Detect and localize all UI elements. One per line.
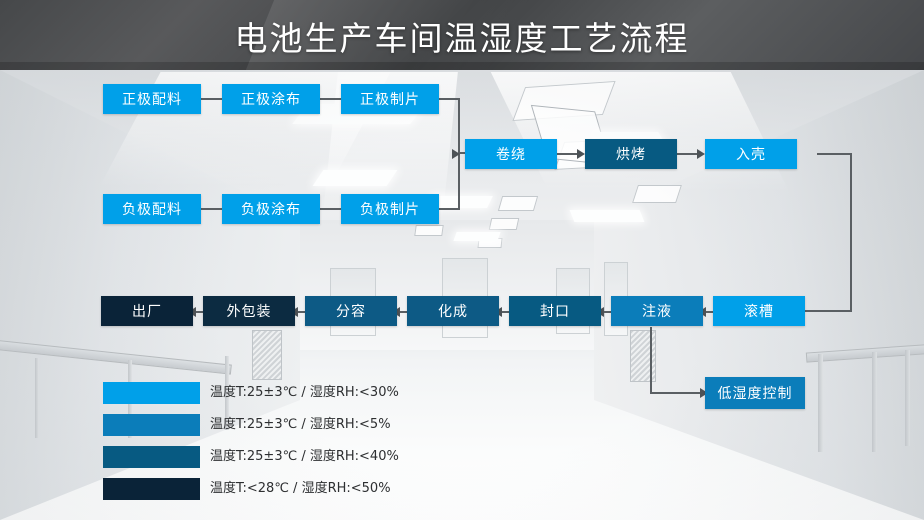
connector-line <box>201 98 224 100</box>
title-banner: 电池生产车间温湿度工艺流程 <box>0 0 924 70</box>
flow-node-label: 化成 <box>438 301 468 321</box>
connector-line <box>438 98 460 100</box>
flow-node-anode-batching[interactable]: 负极配料 <box>103 194 201 224</box>
connector-line <box>556 153 579 155</box>
flow-node-outer-packaging[interactable]: 外包装 <box>203 296 295 326</box>
flow-node-formation[interactable]: 化成 <box>407 296 499 326</box>
flow-node-label: 入壳 <box>736 144 766 164</box>
flow-node-electrolyte-filling[interactable]: 注液 <box>611 296 703 326</box>
connector-line <box>320 208 343 210</box>
connector-line <box>850 153 852 312</box>
flow-node-label: 滚槽 <box>744 301 774 321</box>
legend-label: 温度T:<28℃ / 湿度RH:<50% <box>210 478 391 500</box>
arrow-right-icon <box>697 149 705 159</box>
flow-node-cathode-sheeting[interactable]: 正极制片 <box>341 84 439 114</box>
flow-node-anode-coating[interactable]: 负极涂布 <box>222 194 320 224</box>
flow-node-shipment[interactable]: 出厂 <box>101 296 193 326</box>
flow-node-label: 负极制片 <box>360 199 420 219</box>
flow-node-grading[interactable]: 分容 <box>305 296 397 326</box>
flow-node-label: 烘烤 <box>616 144 646 164</box>
connector-line <box>676 153 699 155</box>
legend-row: 温度T:<28℃ / 湿度RH:<50% <box>103 478 533 510</box>
legend-swatch <box>103 382 200 404</box>
flow-node-cathode-batching[interactable]: 正极配料 <box>103 84 201 114</box>
flow-node-label: 封口 <box>540 301 570 321</box>
flow-node-low-humidity-control[interactable]: 低湿度控制 <box>705 377 805 409</box>
flow-node-label: 出厂 <box>132 301 162 321</box>
flow-node-grooving[interactable]: 滚槽 <box>713 296 805 326</box>
flow-node-label: 正极配料 <box>122 89 182 109</box>
connector-line <box>817 153 852 155</box>
legend-label: 温度T:25±3℃ / 湿度RH:<5% <box>210 414 391 436</box>
legend: 温度T:25±3℃ / 湿度RH:<30% 温度T:25±3℃ / 湿度RH:<… <box>103 382 533 510</box>
legend-swatch <box>103 478 200 500</box>
connector-line <box>650 327 652 394</box>
flow-node-baking[interactable]: 烘烤 <box>585 139 677 169</box>
flow-node-cathode-coating[interactable]: 正极涂布 <box>222 84 320 114</box>
connector-line <box>320 98 343 100</box>
flow-node-label: 分容 <box>336 301 366 321</box>
legend-swatch <box>103 446 200 468</box>
connector-line <box>650 392 703 394</box>
legend-row: 温度T:25±3℃ / 湿度RH:<30% <box>103 382 533 414</box>
flow-node-label: 负极配料 <box>122 199 182 219</box>
legend-row: 温度T:25±3℃ / 湿度RH:<5% <box>103 414 533 446</box>
legend-row: 温度T:25±3℃ / 湿度RH:<40% <box>103 446 533 478</box>
connector-line <box>438 208 460 210</box>
flow-node-label: 外包装 <box>227 301 272 321</box>
connector-line <box>201 208 224 210</box>
arrow-right-icon <box>452 149 460 159</box>
legend-swatch <box>103 414 200 436</box>
banner-shadow <box>0 62 924 70</box>
flow-node-anode-sheeting[interactable]: 负极制片 <box>341 194 439 224</box>
flow-node-label: 正极涂布 <box>241 89 301 109</box>
arrow-right-icon <box>577 149 585 159</box>
flow-node-label: 卷绕 <box>496 144 526 164</box>
legend-label: 温度T:25±3℃ / 湿度RH:<40% <box>210 446 399 468</box>
legend-label: 温度T:25±3℃ / 湿度RH:<30% <box>210 382 399 404</box>
slide-root: 电池生产车间温湿度工艺流程 正极配料 正极涂布 <box>0 0 924 520</box>
flow-node-sealing[interactable]: 封口 <box>509 296 601 326</box>
flow-node-label: 低湿度控制 <box>718 383 793 403</box>
flow-node-label: 负极涂布 <box>241 199 301 219</box>
page-title: 电池生产车间温湿度工艺流程 <box>0 12 924 60</box>
flow-node-winding[interactable]: 卷绕 <box>465 139 557 169</box>
connector-line <box>800 310 852 312</box>
flow-node-label: 注液 <box>642 301 672 321</box>
flow-node-casing[interactable]: 入壳 <box>705 139 797 169</box>
flow-node-label: 正极制片 <box>360 89 420 109</box>
